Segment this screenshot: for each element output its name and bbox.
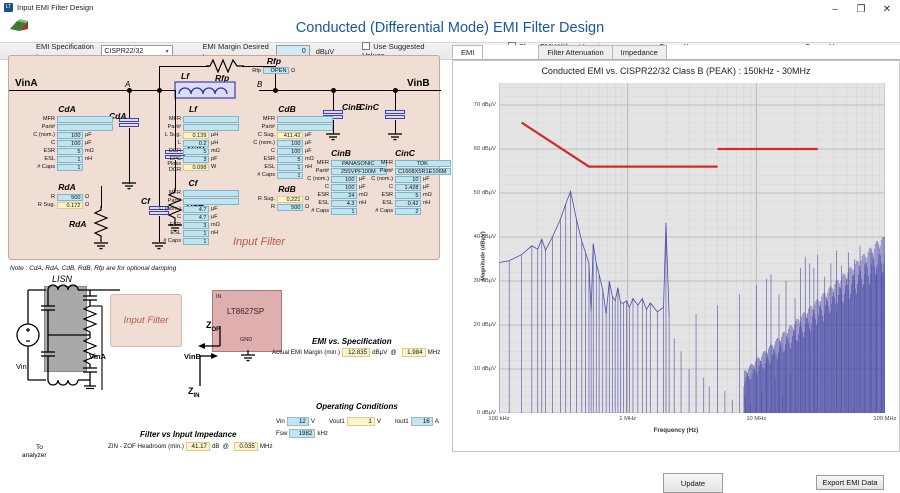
- param-value[interactable]: 100: [277, 148, 303, 155]
- param-unit: Ω: [83, 202, 97, 208]
- param-unit: mΩ: [83, 148, 97, 154]
- update-button[interactable]: Update: [663, 473, 723, 493]
- param-name: R Sug.: [31, 202, 57, 208]
- param-name: ESL: [369, 200, 395, 206]
- param-row: Part#: [31, 123, 127, 130]
- param-value[interactable]: [183, 198, 239, 205]
- param-name: Part#: [157, 124, 183, 130]
- param-value[interactable]: 100: [57, 140, 83, 147]
- actual-emi-margin-label: Actual EMI Margin (min.): [272, 349, 340, 356]
- param-unit: µF: [421, 184, 435, 190]
- param-name: C (nom.): [369, 176, 395, 182]
- param-name: Part#: [251, 124, 277, 130]
- param-value[interactable]: 4.7: [183, 214, 209, 221]
- ic-in-pin-label: IN: [216, 294, 222, 300]
- param-value[interactable]: 100: [57, 132, 83, 139]
- param-name: # Caps: [251, 172, 277, 178]
- vout1-field-label: Vout1: [329, 418, 345, 425]
- actual-emi-margin-value: 12.835: [342, 348, 370, 357]
- param-name: ESR: [251, 156, 277, 162]
- y-tick-label: 50 dBµV: [474, 190, 496, 196]
- param-row: # Caps1: [31, 163, 127, 170]
- param-value[interactable]: 1: [277, 172, 303, 179]
- param-unit: µH: [209, 132, 223, 138]
- ic-gnd-pin-label: GND: [240, 337, 252, 343]
- param-unit: µF: [83, 140, 97, 146]
- param-unit: mΩ: [209, 222, 223, 228]
- chart-plot-clip: [499, 83, 885, 413]
- param-name: C: [157, 214, 183, 220]
- iout1-field-unit: A: [435, 418, 439, 425]
- param-value[interactable]: 0.2: [183, 140, 209, 147]
- headroom-value: 41.17: [186, 442, 210, 451]
- param-value[interactable]: 1: [277, 164, 303, 171]
- param-row: ESR3mΩ: [157, 221, 253, 228]
- cinc-panel-title: CinC: [369, 148, 441, 158]
- rfp-params: Rfp Rfp OPEN Ω: [237, 56, 311, 75]
- chart-pane: EMI Filter Attenuation Impedance Conduct…: [452, 45, 900, 487]
- param-name: Ploss DCR: [157, 161, 183, 173]
- ic-ground-icon: [238, 350, 258, 364]
- vinb-terminal-label: VinB: [407, 78, 430, 89]
- param-value[interactable]: C1608X5R1E106M: [395, 168, 451, 175]
- y-tick-label: 40 dBµV: [474, 234, 496, 240]
- param-name: ESL: [305, 200, 331, 206]
- chart-plot-area[interactable]: 0 dBµV10 dBµV20 dBµV30 dBµV40 dBµV50 dBµ…: [499, 83, 885, 413]
- y-tick-label: 10 dBµV: [474, 366, 496, 372]
- zof-label: ZOF: [206, 320, 220, 333]
- vina-terminal-label: VinA: [15, 78, 38, 89]
- input-filter-title: Input Filter: [233, 236, 285, 248]
- cf-symbol-label: Cf: [141, 196, 150, 206]
- operating-conditions-title: Operating Conditions: [316, 402, 398, 411]
- param-value[interactable]: 1.428: [395, 184, 421, 191]
- emi-chart-frame: Conducted EMI vs. CISPR22/32 Class B (PE…: [452, 60, 900, 452]
- param-name: C (nom.): [251, 140, 277, 146]
- param-name: # Caps: [157, 238, 183, 244]
- param-value[interactable]: 500: [277, 204, 303, 211]
- vin-field-unit: V: [311, 418, 315, 425]
- y-tick-label: 70 dBµV: [474, 102, 496, 108]
- iout1-field-label: Iout1: [395, 418, 409, 425]
- to-analyzer-label-2: analyzer: [22, 452, 47, 459]
- rda-resistor-icon: [93, 206, 109, 242]
- chart-svg: [499, 83, 885, 413]
- fsw-field-label: Fsw: [276, 430, 287, 437]
- node-dot-b: [273, 88, 278, 93]
- vout1-field-value[interactable]: 1: [347, 417, 375, 426]
- param-name: C (nom.): [31, 132, 57, 138]
- emi-at-symbol: @: [390, 349, 396, 356]
- param-name: Part#: [305, 168, 331, 174]
- rfp-panel-title: Rfp: [237, 56, 311, 66]
- lf-inductor-icon: [151, 80, 259, 100]
- param-row: C (nom.)100µF: [31, 131, 127, 138]
- vin-field-label: Vin: [276, 418, 285, 425]
- param-name: MFR: [157, 190, 183, 196]
- param-row: MFR: [31, 116, 127, 123]
- rfp-sug-value[interactable]: OPEN: [263, 67, 289, 74]
- param-row: MFRTDK: [369, 160, 465, 167]
- param-value[interactable]: 5: [57, 148, 83, 155]
- rda-ground-icon: [91, 242, 111, 250]
- param-name: # Caps: [305, 208, 331, 214]
- wire-lf-right: [259, 90, 441, 91]
- param-row: Ploss DCR0.098W: [157, 163, 253, 170]
- param-unit: nH: [421, 200, 435, 206]
- param-unit: µH: [209, 140, 223, 146]
- param-name: DCR: [157, 148, 183, 154]
- rda-param-panel: RdAR500ΩR Sug.0.172Ω: [31, 182, 103, 209]
- param-value[interactable]: 0.139: [183, 132, 209, 139]
- zin-label: ZIN: [188, 386, 200, 399]
- fsw-field-value[interactable]: 1982: [289, 429, 315, 438]
- cinc-capacitor-icon: [385, 110, 405, 119]
- param-row: L0.2µH: [157, 139, 253, 146]
- param-row: ESR5mΩ: [369, 191, 465, 198]
- param-value[interactable]: [183, 116, 239, 123]
- y-tick-label: 30 dBµV: [474, 278, 496, 284]
- param-unit: µF: [209, 214, 223, 220]
- cda-ground-icon: [119, 182, 139, 190]
- param-name: ESR: [369, 192, 395, 198]
- node-b-label: B: [257, 80, 262, 89]
- param-name: C: [251, 148, 277, 154]
- cdb-panel-title: CdB: [251, 104, 323, 114]
- param-row: MFR: [251, 116, 347, 123]
- param-row: ESL1nH: [31, 155, 127, 162]
- param-row: Part#: [157, 197, 253, 204]
- wire-cinc-top: [395, 90, 396, 112]
- param-unit: µF: [421, 176, 435, 182]
- param-value[interactable]: 3: [183, 156, 209, 163]
- window-title: Input EMI Filter Design: [17, 3, 93, 12]
- param-value[interactable]: [277, 124, 333, 131]
- param-row: C1.428µF: [369, 183, 465, 190]
- param-value[interactable]: [57, 124, 113, 131]
- filter-vs-impedance-title: Filter vs Input Impedance: [140, 430, 236, 439]
- vin-field-value[interactable]: 12: [287, 417, 309, 426]
- page-title: Conducted (Differential Mode) EMI Filter…: [0, 20, 900, 36]
- param-value[interactable]: 1: [183, 230, 209, 237]
- param-unit: nH: [209, 230, 223, 236]
- chart-x-axis-title: Frequency (Hz): [453, 427, 899, 434]
- cda-panel-title: CdA: [31, 104, 103, 114]
- iout1-field-value[interactable]: 16: [411, 417, 433, 426]
- input-filter-schematic: Rfp Rfp Rfp OPEN Ω Lf VinA VinB A B: [8, 55, 440, 260]
- param-name: C: [31, 140, 57, 146]
- param-unit: µF: [303, 140, 317, 146]
- param-unit: µF: [83, 132, 97, 138]
- emi-margin-row: Actual EMI Margin (min.) 12.835 dBµV @ 1…: [272, 348, 440, 357]
- param-row: MFR: [157, 190, 253, 197]
- param-name: Part#: [369, 168, 395, 174]
- param-row: C (nom.)4.7µF: [157, 205, 253, 212]
- headroom-at-symbol: @: [223, 443, 229, 450]
- param-row: C4.7µF: [157, 213, 253, 220]
- wire-cda-bottom: [129, 128, 130, 184]
- param-row: R500Ω: [31, 194, 103, 201]
- param-value[interactable]: [277, 116, 333, 123]
- checkbox-icon[interactable]: [362, 42, 370, 50]
- x-tick-label: 100 MHz: [873, 416, 896, 422]
- param-value[interactable]: 100: [331, 176, 357, 183]
- emi-vs-spec-title: EMI vs. Specification: [312, 337, 392, 346]
- param-row: C100µF: [31, 139, 127, 146]
- rfp-sug-unit: Ω: [289, 68, 303, 74]
- fsw-field-unit: kHz: [317, 430, 328, 437]
- param-row: R Sug.0.172Ω: [31, 201, 103, 208]
- param-value[interactable]: 5: [277, 156, 303, 163]
- param-name: ESL: [31, 156, 57, 162]
- cf-panel-title: Cf: [157, 178, 229, 188]
- param-value[interactable]: 2: [395, 208, 421, 215]
- ic-name-label: LT8627SP: [227, 307, 264, 316]
- param-value[interactable]: 4.7: [183, 206, 209, 213]
- param-value[interactable]: TDK: [395, 160, 451, 167]
- to-analyzer-label-1: To: [36, 444, 43, 451]
- param-value[interactable]: [183, 124, 239, 131]
- param-value[interactable]: 5: [183, 148, 209, 155]
- param-name: ESR: [157, 222, 183, 228]
- param-name: C (nom.): [305, 176, 331, 182]
- emi-margin-freq-unit: MHz: [428, 349, 441, 356]
- param-value[interactable]: 0.42: [395, 200, 421, 207]
- param-name: C: [369, 184, 395, 190]
- headroom-row: ZIN - ZOF Headroom (min.) 41.17 dB @ 0.0…: [108, 442, 273, 451]
- param-name: MFR: [251, 116, 277, 122]
- param-value[interactable]: 500: [57, 194, 83, 201]
- param-row: Part#C1608X5R1E106M: [369, 167, 465, 174]
- param-name: L Sug.: [157, 132, 183, 138]
- rda-symbol-label: RdA: [69, 219, 86, 229]
- y-tick-label: 60 dBµV: [474, 146, 496, 152]
- wire-rfp-top-left: [159, 66, 209, 67]
- param-row: L Sug.0.139µH: [157, 131, 253, 138]
- param-name: C (nom.): [157, 206, 183, 212]
- param-value[interactable]: 4.3: [331, 200, 357, 207]
- cda-param-panel: CdAMFRPart#C (nom.)100µFC100µFESR5mΩESL1…: [31, 104, 127, 171]
- param-name: R: [251, 204, 277, 210]
- param-value[interactable]: 0.172: [57, 202, 83, 209]
- emi-spec-value: CISPR22/32: [104, 48, 143, 55]
- schematic-pane: Rfp Rfp Rfp OPEN Ω Lf VinA VinB A B: [0, 62, 450, 487]
- actual-emi-margin-unit: dBµV: [372, 349, 387, 356]
- param-value[interactable]: 411.42: [277, 132, 303, 139]
- y-tick-label: 20 dBµV: [474, 322, 496, 328]
- param-name: MFR: [31, 116, 57, 122]
- cinc-param-panel: CinCMFRTDKPart#C1608X5R1E106MC (nom.)10µ…: [369, 148, 465, 215]
- param-name: MFR: [305, 160, 331, 166]
- param-value[interactable]: 0.221: [277, 196, 303, 203]
- param-name: ESR: [305, 192, 331, 198]
- headroom-freq-value: 0.035: [234, 442, 258, 451]
- param-row: Part#: [251, 123, 347, 130]
- param-unit: µF: [303, 132, 317, 138]
- emi-margin-freq-value: 1.984: [402, 348, 426, 357]
- vin-source-label: Vin: [16, 362, 27, 371]
- param-value[interactable]: 5: [395, 192, 421, 199]
- wire-vina-rail: [9, 90, 129, 91]
- tab-filter-attenuation[interactable]: Filter Attenuation: [538, 45, 612, 59]
- param-row: MFR: [157, 116, 253, 123]
- tab-emi[interactable]: EMI: [452, 45, 483, 59]
- param-name: L: [157, 140, 183, 146]
- param-value[interactable]: 24: [331, 192, 357, 199]
- param-row: C (nom.)10µF: [369, 175, 465, 182]
- param-name: C Sug.: [251, 132, 277, 138]
- param-value[interactable]: 100: [331, 184, 357, 191]
- cinc-ground-icon: [385, 133, 405, 141]
- lf-param-panel: LfMFRPart#L Sug.0.139µHL0.2µHDCR5mΩEPC3p…: [157, 104, 253, 171]
- param-value[interactable]: 3: [183, 222, 209, 229]
- x-tick-label: 10 MHz: [746, 416, 766, 422]
- param-row: # Caps2: [369, 207, 465, 214]
- param-name: Part#: [31, 124, 57, 130]
- chart-tabs[interactable]: EMI Filter Attenuation Impedance: [452, 45, 900, 60]
- param-row: C Sug.411.42µF: [251, 131, 347, 138]
- cinc-symbol-label: CinC: [359, 102, 379, 112]
- cinb-panel-title: CinB: [305, 148, 377, 158]
- param-name: ESR: [31, 148, 57, 154]
- x-tick-label: 1 MHz: [619, 416, 636, 422]
- param-name: R Sug.: [251, 196, 277, 202]
- param-name: C: [305, 184, 331, 190]
- param-unit: mΩ: [421, 192, 435, 198]
- param-unit: Ω: [83, 194, 97, 200]
- param-unit: pF: [209, 156, 223, 162]
- wire-cda-top: [129, 90, 130, 120]
- app-icon: LT: [4, 3, 13, 12]
- param-row: ESR5mΩ: [31, 147, 127, 154]
- chart-title: Conducted EMI vs. CISPR22/32 Class B (PE…: [453, 66, 899, 76]
- param-value[interactable]: 1: [57, 156, 83, 163]
- vina-block-label: VinA: [89, 352, 106, 361]
- param-name: # Caps: [31, 164, 57, 170]
- param-name: Part#: [157, 198, 183, 204]
- param-row: ESL0.42nH: [369, 199, 465, 206]
- param-name: ESL: [251, 164, 277, 170]
- input-filter-block[interactable]: Input Filter: [110, 294, 182, 347]
- vout1-field-unit: V: [377, 418, 381, 425]
- param-value[interactable]: 1: [183, 238, 209, 245]
- param-name: MFR: [369, 160, 395, 166]
- param-value[interactable]: 10: [395, 176, 421, 183]
- export-emi-data-button[interactable]: Export EMI Data: [816, 475, 884, 490]
- rfp-sug-name: Rfp: [237, 68, 263, 74]
- lf-panel-title: Lf: [157, 104, 229, 114]
- window-titlebar: LT Input EMI Filter Design – ❐ ✕: [0, 0, 900, 14]
- param-value[interactable]: 0.098: [183, 164, 209, 171]
- param-name: MFR: [157, 116, 183, 122]
- param-unit: mΩ: [209, 148, 223, 154]
- operating-conditions-row-1: Vin 12 V Vout1 1 V Iout1 16 A: [276, 417, 439, 426]
- param-name: R: [31, 194, 57, 200]
- x-tick-label: 100 kHz: [488, 416, 509, 422]
- param-row: Part#: [157, 123, 253, 130]
- param-value[interactable]: 100: [277, 140, 303, 147]
- operating-conditions-row-2: Fsw 1982 kHz: [276, 429, 328, 438]
- param-unit: nH: [83, 156, 97, 162]
- damping-note: Note : CdA, RdA, CdB, RdB, Rfp are for o…: [10, 265, 176, 272]
- headroom-freq-unit: MHz: [260, 443, 273, 450]
- param-row: DCR5mΩ: [157, 147, 253, 154]
- param-value[interactable]: [183, 190, 239, 197]
- param-name: ESL: [157, 230, 183, 236]
- headroom-label: ZIN - ZOF Headroom (min.): [108, 443, 184, 450]
- param-value[interactable]: 1: [331, 208, 357, 215]
- ribbon-header: Conducted (Differential Mode) EMI Filter…: [0, 14, 900, 42]
- tab-impedance[interactable]: Impedance: [612, 45, 667, 59]
- param-row: C (nom.)100µF: [251, 139, 347, 146]
- param-unit: W: [209, 164, 223, 170]
- param-unit: µF: [209, 206, 223, 212]
- lf-symbol-label: Lf: [181, 71, 189, 81]
- wire-cinc-bottom: [395, 120, 396, 134]
- headroom-unit: dB: [212, 443, 220, 450]
- param-name: # Caps: [369, 208, 395, 214]
- param-value[interactable]: [57, 116, 113, 123]
- rda-panel-title: RdA: [31, 182, 103, 192]
- param-value[interactable]: 1: [57, 164, 83, 171]
